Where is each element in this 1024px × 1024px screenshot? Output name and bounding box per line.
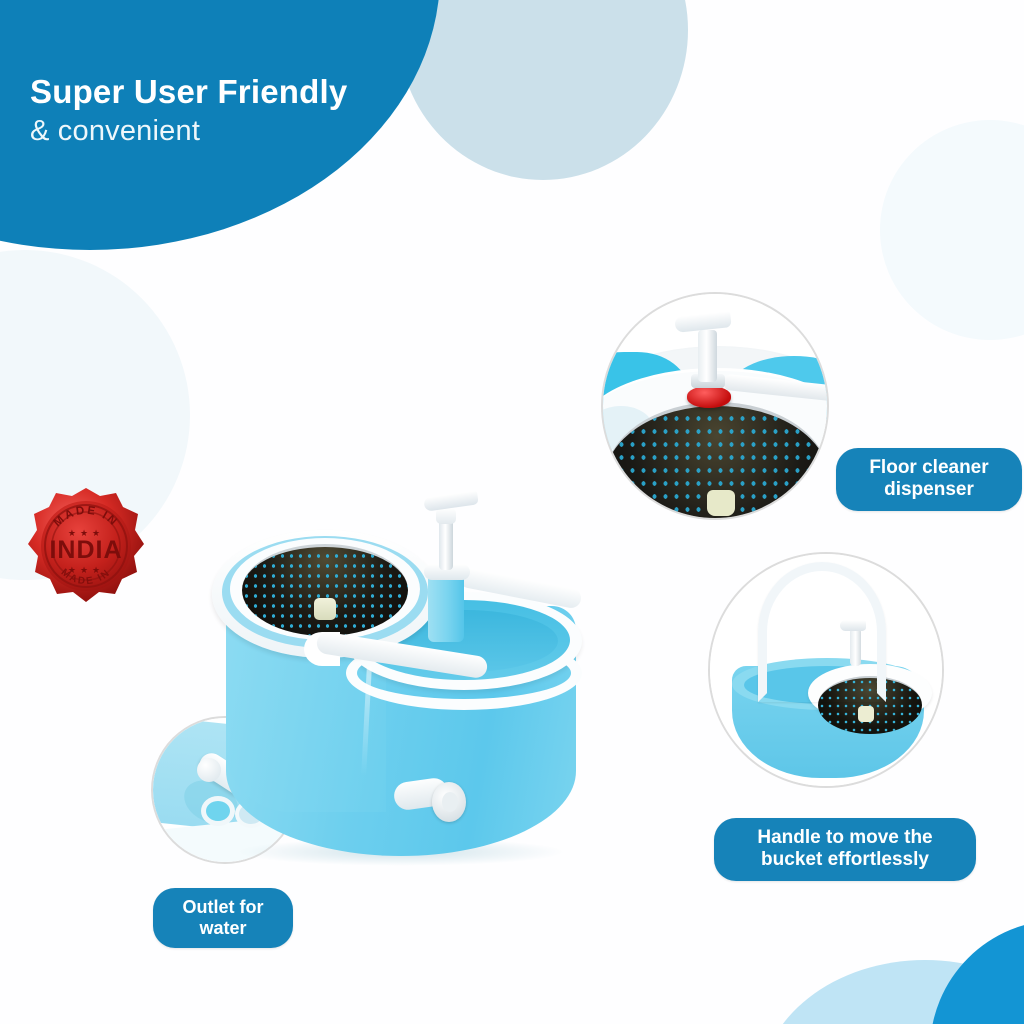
page-title: Super User Friendly: [30, 74, 460, 111]
bucket-wheel-hub: [442, 792, 458, 812]
callout-line-1: Handle to move the: [730, 827, 960, 849]
inset1-pump-body: [698, 330, 717, 382]
callout-floor-cleaner-dispenser[interactable]: Floor cleaner dispenser: [836, 448, 1022, 511]
spinner-perforations: [242, 551, 408, 636]
wax-seal-icon: MADE IN MADE IN ★★★ ★★★ INDIA: [24, 484, 148, 608]
header-text-block: Super User Friendly & convenient: [30, 74, 460, 148]
inset-handle-closeup: [708, 552, 944, 788]
dispenser-column: [428, 570, 464, 642]
marketing-image-canvas: Super User Friendly & convenient: [0, 0, 1024, 1024]
callout-handle-to-move[interactable]: Handle to move the bucket effortlessly: [714, 818, 976, 881]
callout-line-2: bucket effortlessly: [730, 849, 960, 871]
inset2-carry-handle: [758, 562, 886, 702]
inset1-red-collar: [687, 386, 731, 408]
inset-dispenser-photo: [603, 294, 827, 518]
spinner-center-knob: [314, 598, 336, 620]
callout-line-2: dispenser: [852, 479, 1006, 501]
background-blob-top-right: [880, 120, 1024, 340]
inset-dispenser-closeup: [601, 292, 829, 520]
svg-text:★★★: ★★★: [68, 565, 104, 575]
badge-stars-bottom: ★★★: [68, 565, 104, 575]
inset2-spinner-knob: [858, 706, 874, 722]
page-subtitle: & convenient: [30, 114, 460, 148]
product-image-spin-mop-bucket: [196, 486, 626, 886]
callout-line-2: water: [169, 918, 277, 939]
dispenser-pump-body: [439, 516, 453, 570]
callout-line-1: Outlet for: [169, 897, 277, 918]
spinner-steel-basket: [242, 544, 408, 636]
inset1-spinner-knob: [707, 490, 735, 516]
callout-line-1: Floor cleaner: [852, 457, 1006, 479]
badge-main-text: INDIA: [49, 536, 122, 564]
dispenser-pump-neck: [436, 508, 456, 524]
made-in-india-badge: MADE IN MADE IN ★★★ ★★★ INDIA: [24, 484, 148, 608]
inset-handle-photo: [710, 554, 942, 786]
callout-outlet-for-water[interactable]: Outlet for water: [153, 888, 293, 948]
